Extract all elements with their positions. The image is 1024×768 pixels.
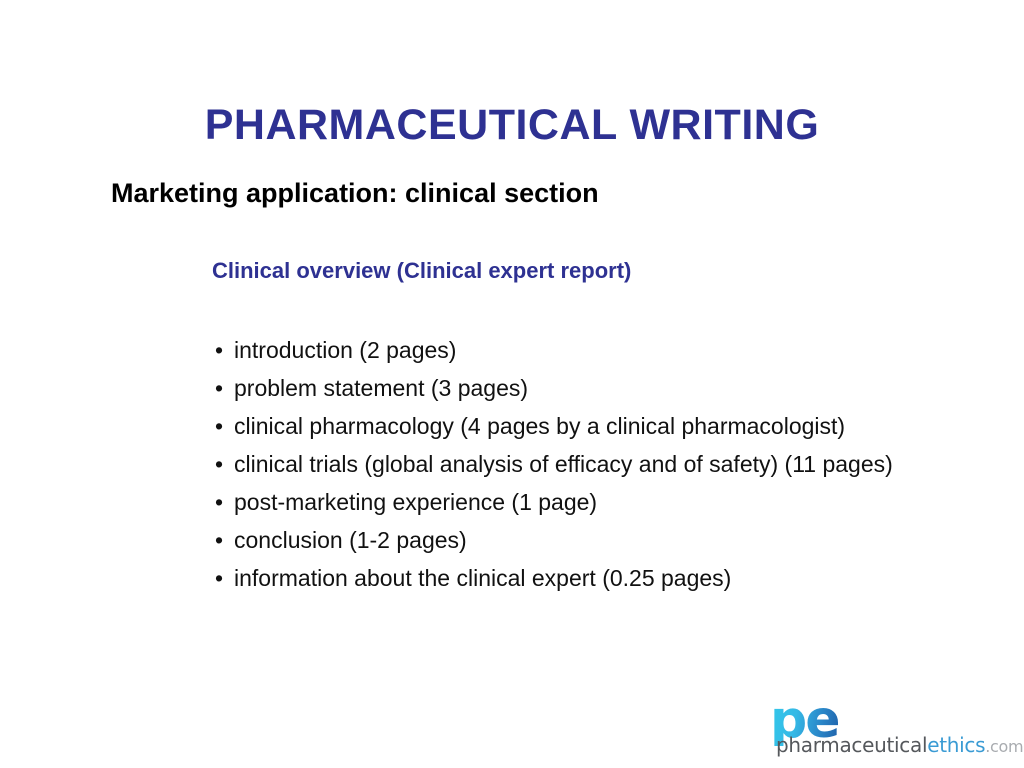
section-heading: Clinical overview (Clinical expert repor…: [212, 258, 631, 283]
bullet-marker-icon: •: [215, 484, 223, 521]
list-item-label: problem statement (3 pages): [234, 370, 1003, 407]
bullet-marker-icon: •: [215, 370, 223, 407]
subheading: Marketing application: clinical section: [111, 178, 599, 209]
list-item: • information about the clinical expert …: [213, 560, 1003, 597]
logo-wordmark: pharmaceuticalethics.com: [776, 734, 1023, 758]
bullet-marker-icon: •: [215, 446, 223, 483]
bullet-list: • introduction (2 pages) • problem state…: [213, 332, 1003, 598]
bullet-marker-icon: •: [215, 332, 223, 369]
bullet-marker-icon: •: [215, 560, 223, 597]
bullet-marker-icon: •: [215, 408, 223, 445]
slide-canvas: PHARMACEUTICAL WRITING Marketing applica…: [0, 0, 1024, 768]
logo-word-com: .com: [985, 737, 1023, 756]
list-item: • introduction (2 pages): [213, 332, 1003, 369]
list-item: • clinical trials (global analysis of ef…: [213, 446, 1003, 483]
page-title: PHARMACEUTICAL WRITING: [0, 103, 1024, 148]
list-item-label: clinical trials (global analysis of effi…: [234, 446, 1003, 483]
list-item-label: information about the clinical expert (0…: [234, 560, 1003, 597]
logo-word-ethics: ethics: [927, 733, 985, 757]
logo-word-pharmaceutical: pharmaceutical: [776, 733, 927, 757]
list-item-label: clinical pharmacology (4 pages by a clin…: [234, 408, 1003, 445]
pharmaceuticalethics-logo: pe pharmaceuticalethics.com: [766, 694, 1016, 762]
list-item-label: post-marketing experience (1 page): [234, 484, 1003, 521]
bullet-marker-icon: •: [215, 522, 223, 559]
list-item: • clinical pharmacology (4 pages by a cl…: [213, 408, 1003, 445]
list-item-label: introduction (2 pages): [234, 332, 1003, 369]
list-item: • post-marketing experience (1 page): [213, 484, 1003, 521]
list-item-label: conclusion (1-2 pages): [234, 522, 1003, 559]
list-item: • problem statement (3 pages): [213, 370, 1003, 407]
list-item: • conclusion (1-2 pages): [213, 522, 1003, 559]
